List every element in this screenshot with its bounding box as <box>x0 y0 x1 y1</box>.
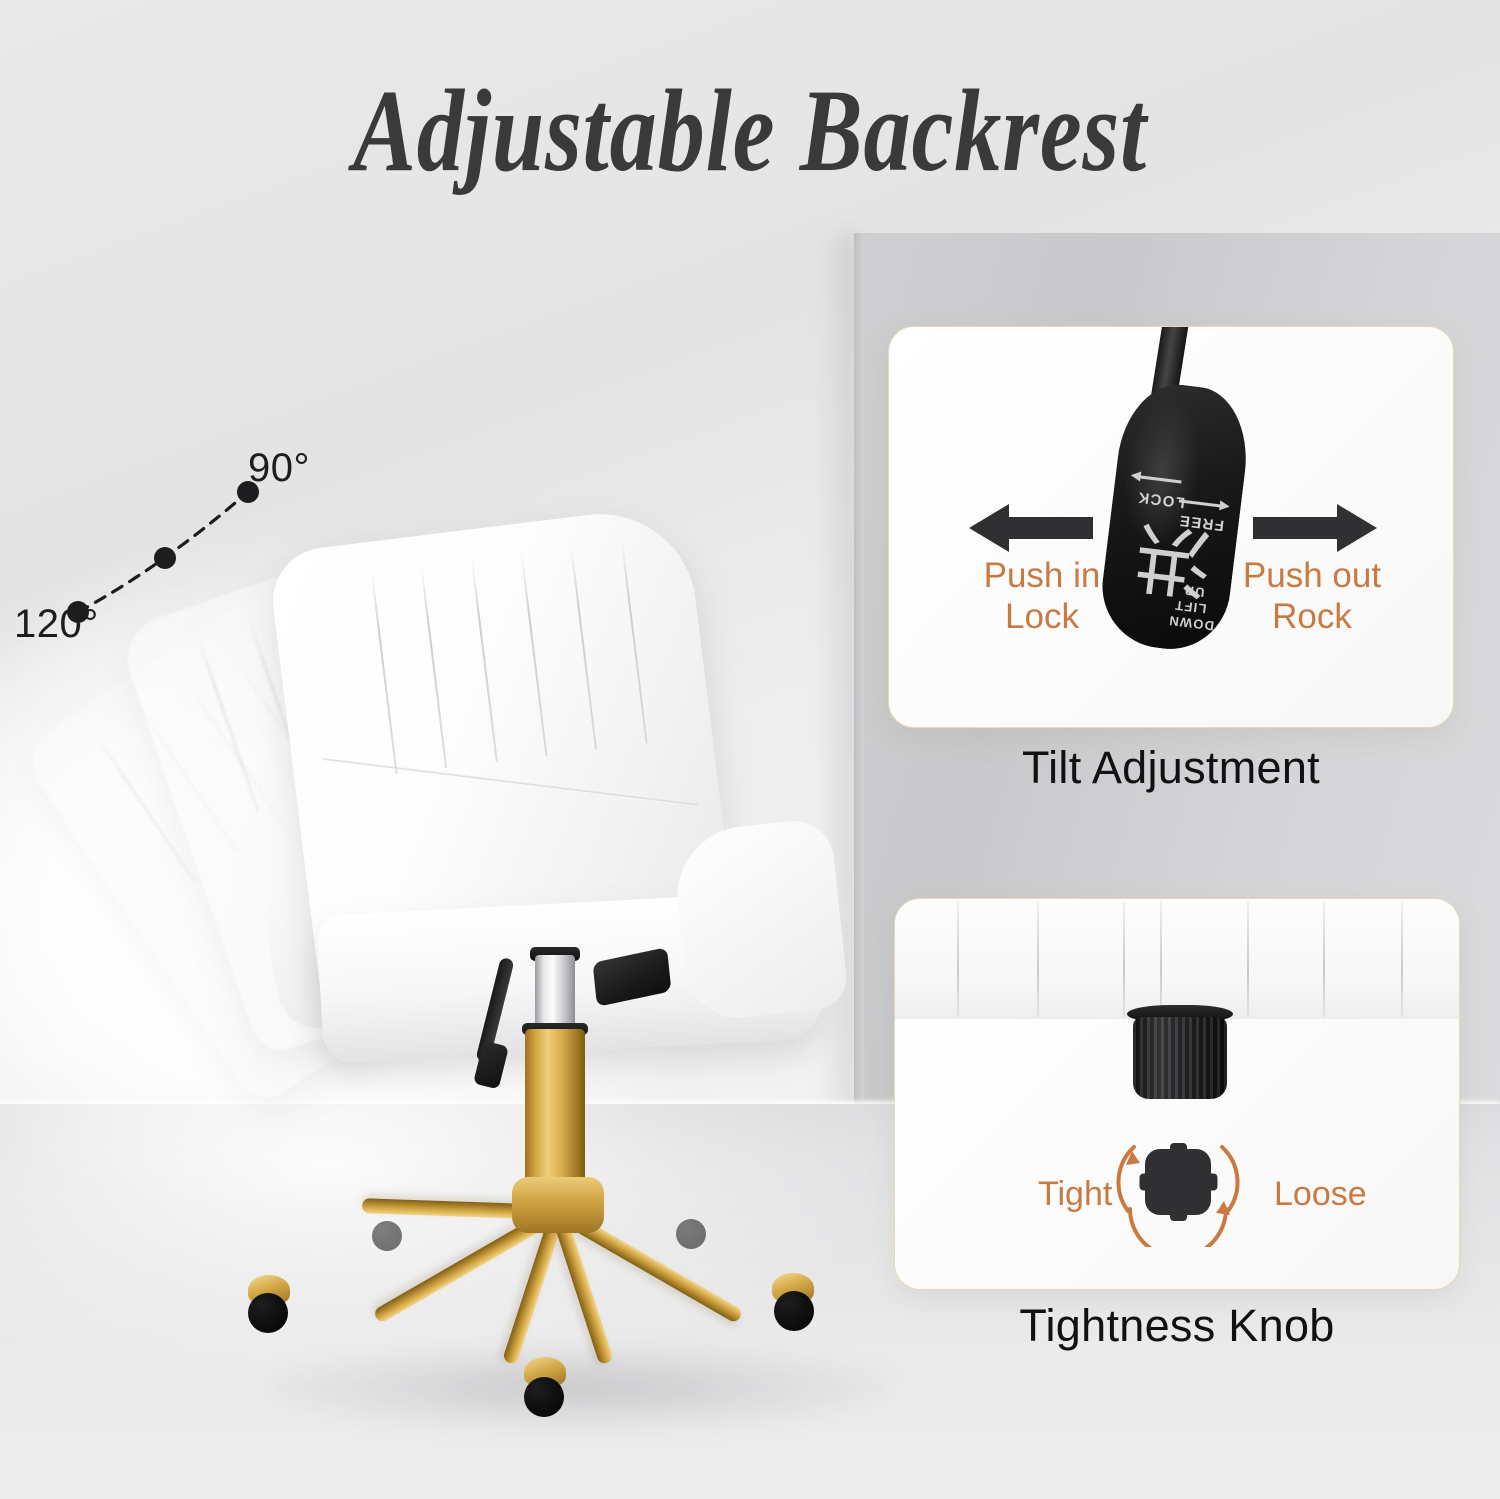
arrow-right-icon <box>1253 517 1339 539</box>
tightness-knob-caption: Tightness Knob <box>894 1300 1460 1352</box>
arrow-left-icon <box>1007 517 1093 539</box>
chair-armrest-front <box>671 817 850 1023</box>
push-out-rock-label: Push out Rock <box>1219 555 1405 638</box>
arrow-arc-clockwise <box>1222 1147 1238 1211</box>
chair-floor-shadow <box>270 1345 890 1431</box>
rock-line: Rock <box>1272 597 1352 636</box>
gear-icon <box>1145 1149 1211 1215</box>
office-chair-photo <box>120 505 880 1425</box>
caster-wheel <box>774 1291 814 1331</box>
caster-wheel <box>524 1377 564 1417</box>
lever-label-down: DOWN <box>1167 613 1214 633</box>
tightness-knob-card: Tight Loose <box>894 898 1460 1290</box>
tight-label: Tight <box>1038 1175 1112 1214</box>
lock-line: Lock <box>1005 597 1079 636</box>
chair-base-hub <box>512 1177 604 1233</box>
push-out-line: Push out <box>1243 556 1381 595</box>
lever-label-up: UP <box>1183 583 1205 600</box>
product-scene: Adjustable Backrest 90° 120° <box>0 0 1500 1499</box>
loose-label: Loose <box>1274 1175 1367 1214</box>
tilt-adjustment-card: LOCK FREE 洪 DOWN LIFT UP Push in Lock Pu… <box>888 326 1454 728</box>
gas-cylinder-gold-sleeve <box>525 1029 585 1199</box>
rotation-direction-indicator: Tight Loose <box>1078 1127 1278 1247</box>
caster-wheel-rear <box>372 1221 402 1251</box>
tension-knob <box>1133 1017 1227 1099</box>
lever-chinese-glyph: 洪 <box>1134 499 1219 599</box>
page-title: Adjustable Backrest <box>150 72 1350 190</box>
caster-wheel <box>248 1293 288 1333</box>
recline-label-120: 120° <box>14 602 99 647</box>
tilt-adjustment-caption: Tilt Adjustment <box>888 742 1454 794</box>
push-in-line: Push in <box>984 556 1101 595</box>
push-in-lock-label: Push in Lock <box>949 555 1135 638</box>
caster-wheel-rear <box>676 1219 706 1249</box>
recline-label-90: 90° <box>248 446 310 491</box>
lever-arrow-lock <box>1140 475 1182 483</box>
seat-underside <box>895 899 1460 1019</box>
